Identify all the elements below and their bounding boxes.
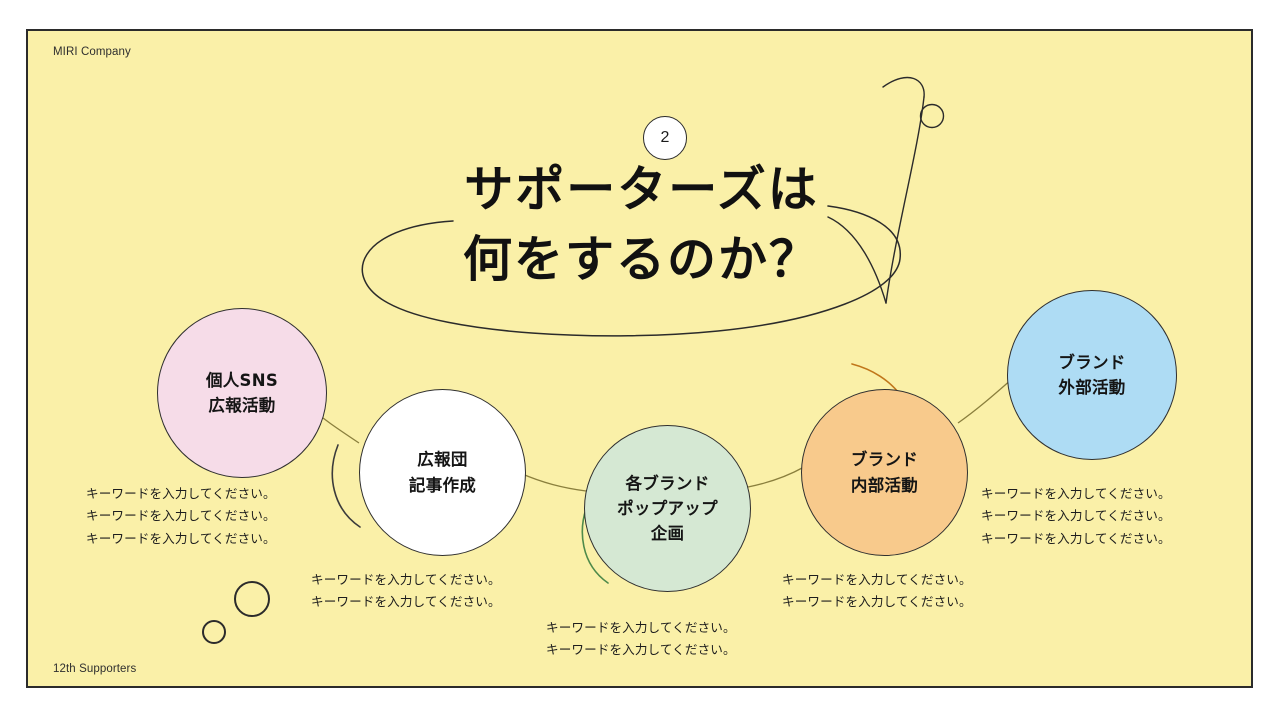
node-brand-popup[interactable]: 各ブランド ポップアップ 企画 [584,425,751,592]
slide-panel: MIRI Company 2 サポーターズは 何をするのか？ 個人SNS 広報活… [26,29,1253,688]
accent-arc-article [332,445,360,527]
node-brand-popup-label: 各ブランド ポップアップ 企画 [617,471,718,546]
node-pr-team-article[interactable]: 広報団 記事作成 [359,389,526,556]
caption-personal-sns: キーワードを入力してください。 キーワードを入力してください。 キーワードを入力… [86,483,276,550]
section-number-badge: 2 [643,116,687,160]
node-pr-team-article-label: 広報団 記事作成 [409,447,476,497]
node-personal-sns[interactable]: 個人SNS 広報活動 [157,308,327,478]
page-title-line-2: 何をするのか？ [28,225,1253,295]
caption-brand-external: キーワードを入力してください。 キーワードを入力してください。 キーワードを入力… [981,483,1171,550]
node-brand-external-label: ブランド 外部活動 [1058,350,1125,400]
node-brand-external[interactable]: ブランド 外部活動 [1007,290,1177,460]
decor-circle-small-bottom [203,621,225,643]
connector-popup-inner [748,467,804,487]
node-personal-sns-label: 個人SNS 広報活動 [206,368,278,418]
connector-inner-outer [958,379,1012,423]
decor-circle-top-right [921,105,944,128]
connector-article-popup [520,473,586,491]
brand-label: MIRI Company [53,46,131,58]
footer-label: 12th Supporters [53,663,136,675]
caption-brand-internal: キーワードを入力してください。 キーワードを入力してください。 [782,569,972,614]
node-brand-internal-label: ブランド 内部活動 [851,447,918,497]
node-brand-internal[interactable]: ブランド 内部活動 [801,389,968,556]
page-title-line-1: サポーターズは [28,155,1253,225]
caption-brand-popup: キーワードを入力してください。 キーワードを入力してください。 [546,617,736,662]
caption-pr-team-article: キーワードを入力してください。 キーワードを入力してください。 [311,569,501,614]
decor-circle-large-bottom [235,582,269,616]
page-title: サポーターズは 何をするのか？ [28,155,1253,294]
slide-root: MIRI Company 2 サポーターズは 何をするのか？ 個人SNS 広報活… [0,0,1280,720]
